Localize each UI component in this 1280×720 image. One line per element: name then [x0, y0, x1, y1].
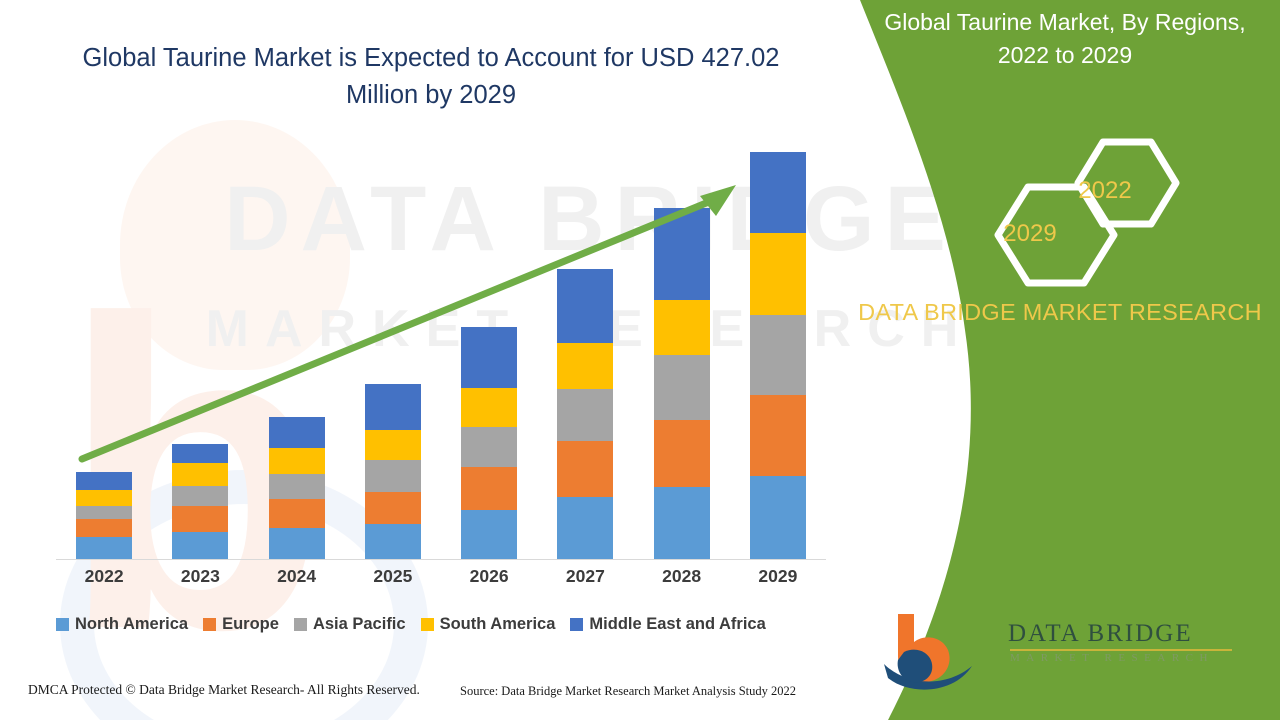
bar-slot	[537, 140, 633, 559]
x-axis-label: 2027	[537, 566, 633, 587]
stacked-bar[interactable]	[557, 269, 613, 559]
bar-segment	[365, 384, 421, 430]
brand-panel: Global Taurine Market, By Regions, 2022 …	[820, 0, 1280, 720]
hexagon-year-end: 2029	[980, 220, 1080, 248]
stacked-bar[interactable]	[750, 152, 806, 559]
bar-segment	[172, 444, 228, 464]
bar-segment	[76, 490, 132, 506]
stacked-bar[interactable]	[269, 417, 325, 559]
legend-swatch	[203, 618, 216, 631]
legend-item[interactable]: South America	[421, 615, 556, 634]
stacked-bar[interactable]	[654, 208, 710, 559]
brand-name: DATA BRIDGE MARKET RESEARCH	[850, 296, 1270, 329]
bar-segment	[365, 492, 421, 525]
bar-segment	[557, 343, 613, 389]
legend-label: South America	[440, 615, 556, 634]
bar-segment	[76, 537, 132, 559]
x-axis-labels: 20222023202420252026202720282029	[56, 566, 826, 587]
bar-segment	[750, 233, 806, 316]
logo-mark-icon	[880, 608, 1000, 694]
bar-segment	[461, 327, 517, 388]
bar-segment	[76, 472, 132, 489]
bar-slot	[441, 140, 537, 559]
page-title: Global Taurine Market is Expected to Acc…	[46, 40, 816, 114]
bar-segment	[557, 497, 613, 559]
bar-segment	[365, 430, 421, 460]
bar-slot	[730, 140, 826, 559]
bar-segment	[654, 487, 710, 559]
bar-segment	[172, 506, 228, 532]
bar-segment	[365, 524, 421, 559]
legend-item[interactable]: Europe	[203, 615, 279, 634]
logo-tagline: MARKET RESEARCH	[1010, 652, 1214, 664]
bar-segment	[461, 427, 517, 467]
bar-slot	[634, 140, 730, 559]
bar-segment	[750, 476, 806, 559]
legend-swatch	[570, 618, 583, 631]
hexagon-badges: 2029 2022	[970, 125, 1200, 295]
stacked-bar[interactable]	[172, 444, 228, 559]
bar-segment	[750, 395, 806, 477]
x-axis-label: 2025	[345, 566, 441, 587]
x-axis-label: 2026	[441, 566, 537, 587]
x-axis-line	[56, 559, 826, 560]
bar-slot	[56, 140, 152, 559]
bar-segment	[654, 208, 710, 300]
hexagon-year-start: 2022	[1055, 177, 1155, 205]
bar-segment	[461, 467, 517, 510]
stacked-bar[interactable]	[461, 327, 517, 559]
x-axis-label: 2024	[249, 566, 345, 587]
legend-item[interactable]: Asia Pacific	[294, 615, 406, 634]
bar-segment	[269, 448, 325, 474]
chart-plot-area	[56, 140, 826, 560]
x-axis-label: 2028	[634, 566, 730, 587]
bar-segment	[557, 389, 613, 441]
bar-segment	[76, 506, 132, 519]
bar-slot	[345, 140, 441, 559]
footer-source: Source: Data Bridge Market Research Mark…	[460, 684, 796, 699]
company-logo: DATA BRIDGE MARKET RESEARCH	[880, 608, 1260, 694]
legend-label: Europe	[222, 615, 279, 634]
bar-segment	[269, 417, 325, 449]
logo-divider	[1010, 649, 1232, 651]
bar-segment	[750, 152, 806, 232]
bar-segment	[172, 463, 228, 486]
bar-segment	[269, 499, 325, 528]
legend-swatch	[56, 618, 69, 631]
infographic-canvas: b DATA BRIDGE MARKET RESEARCH Global Tau…	[0, 0, 1280, 720]
x-axis-label: 2023	[152, 566, 248, 587]
bar-segment	[76, 519, 132, 537]
bar-segment	[461, 510, 517, 559]
legend-label: Middle East and Africa	[589, 615, 765, 634]
bar-segment	[750, 315, 806, 394]
bar-segment	[269, 474, 325, 499]
bar-slot	[249, 140, 345, 559]
x-axis-label: 2022	[56, 566, 152, 587]
bar-segment	[654, 355, 710, 420]
legend-item[interactable]: North America	[56, 615, 188, 634]
bar-segment	[172, 486, 228, 506]
legend-label: Asia Pacific	[313, 615, 406, 634]
bar-segment	[365, 460, 421, 491]
x-axis-label: 2029	[730, 566, 826, 587]
bar-group	[56, 140, 826, 559]
legend-item[interactable]: Middle East and Africa	[570, 615, 765, 634]
logo-wordmark: DATA BRIDGE	[1008, 620, 1193, 648]
bar-segment	[654, 300, 710, 354]
bar-segment	[557, 441, 613, 497]
bar-segment	[654, 420, 710, 487]
bar-segment	[172, 532, 228, 559]
bar-segment	[557, 269, 613, 343]
bar-segment	[269, 528, 325, 559]
bar-segment	[461, 388, 517, 426]
legend-swatch	[421, 618, 434, 631]
chart-legend: North AmericaEuropeAsia PacificSouth Ame…	[56, 615, 846, 634]
hexagon-outline-icons	[970, 125, 1200, 295]
legend-label: North America	[75, 615, 188, 634]
bar-slot	[152, 140, 248, 559]
stacked-bar[interactable]	[76, 472, 132, 559]
footer-copyright: DMCA Protected © Data Bridge Market Rese…	[28, 682, 420, 698]
stacked-bar[interactable]	[365, 384, 421, 559]
panel-title: Global Taurine Market, By Regions, 2022 …	[860, 6, 1270, 71]
footer: DMCA Protected © Data Bridge Market Rese…	[0, 676, 820, 720]
legend-swatch	[294, 618, 307, 631]
